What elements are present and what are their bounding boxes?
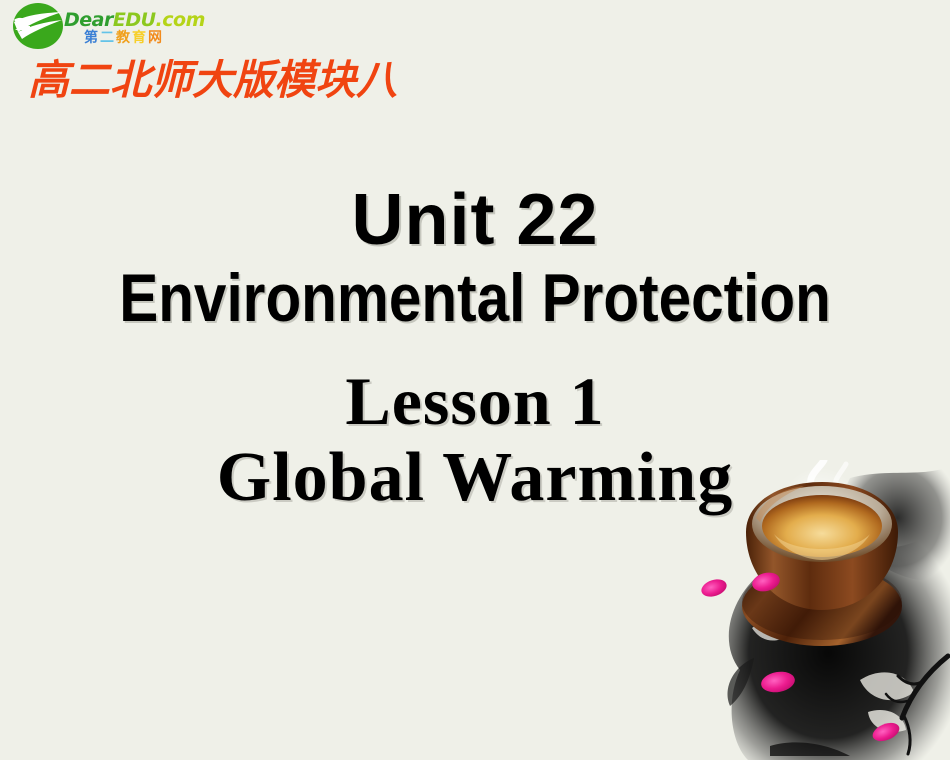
ink-light-wash	[752, 620, 914, 732]
subtitle-char-2: 二	[100, 30, 116, 46]
unit-topic-title: Environmental Protection	[67, 260, 884, 336]
wordmark-part-edu: EDU	[113, 9, 156, 31]
subtitle-char-1: 第	[84, 30, 100, 46]
dearedu-wordmark: DearEDU.com	[64, 9, 202, 31]
teacup-saucer	[742, 564, 902, 646]
unit-title: Unit 22	[0, 180, 950, 260]
wordmark-part-com: .com	[156, 9, 205, 31]
plum-branch	[886, 656, 948, 754]
plum-petals	[700, 570, 902, 745]
wordmark-part-dear: Dear	[64, 9, 113, 31]
course-edition-heading: 高二北师大版模块八	[28, 54, 397, 106]
dearedu-logo-mark-icon	[12, 2, 64, 50]
lesson-subject-title: Global Warming	[0, 438, 950, 518]
title-block: Unit 22 Environmental Protection Lesson …	[0, 180, 950, 518]
subtitle-char-5: 网	[148, 30, 164, 46]
dearedu-logo-subtitle: 第二教育网	[84, 30, 164, 47]
subtitle-char-4: 育	[132, 30, 148, 46]
lesson-number-title: Lesson 1	[0, 364, 950, 438]
dearedu-logo[interactable]: DearEDU.com 第二教育网	[4, 0, 204, 52]
slide-canvas: DearEDU.com 第二教育网 高二北师大版模块八 Unit 22 Envi…	[0, 0, 950, 760]
subtitle-char-3: 教	[116, 30, 132, 46]
